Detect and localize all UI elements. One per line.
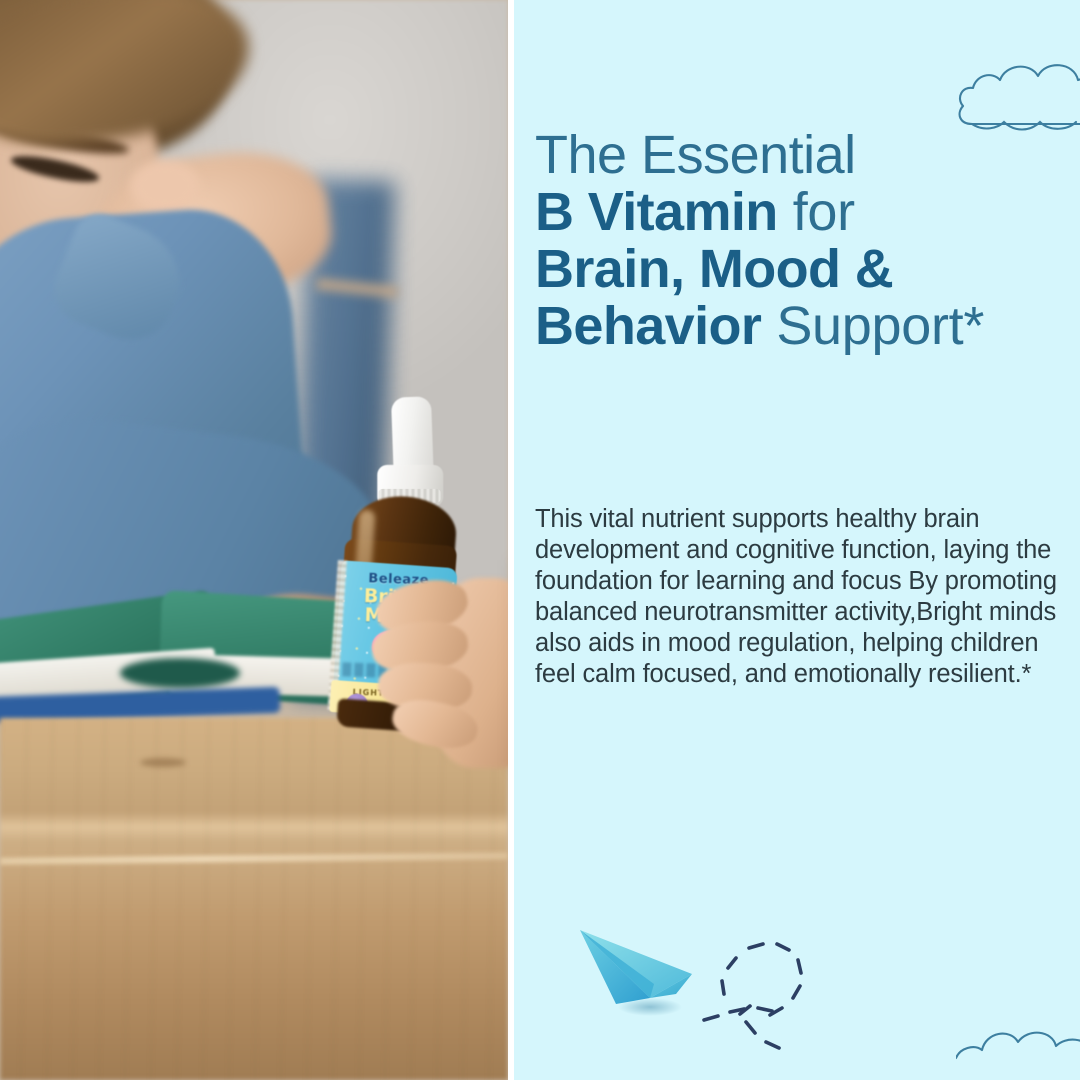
headline-line-4-light: Support* (776, 296, 984, 356)
headline-line-2: B Vitamin for (535, 185, 1080, 240)
headline-line-1: The Essential (535, 128, 1080, 183)
product-lifestyle-photo: Beleaze Bright Minds LIGHT CITRUS (0, 0, 508, 1080)
headline-block: The Essential B Vitamin for Brain, Mood … (535, 128, 1080, 354)
paper-plane-graphic (572, 902, 842, 1052)
cloud-bottom-right-icon (956, 1010, 1080, 1080)
photo-floor-grain (0, 718, 508, 1080)
ad-canvas: Beleaze Bright Minds LIGHT CITRUS (0, 0, 1080, 1080)
headline-line-4-bold: Behavior (535, 296, 761, 356)
photo-floor-knot (140, 758, 186, 767)
photo-child-thumb (130, 160, 200, 212)
headline-line-4: Behavior Support* (535, 299, 1080, 354)
headline-line-3-bold: Brain, Mood & (535, 239, 893, 299)
body-paragraph: This vital nutrient supports healthy bra… (535, 504, 1080, 690)
marketing-copy-panel: The Essential B Vitamin for Brain, Mood … (514, 0, 1080, 1080)
book-spine (120, 658, 240, 688)
plane-dashed-trail (704, 944, 801, 1048)
headline-line-2-bold: B Vitamin (535, 182, 778, 242)
headline-line-3: Brain, Mood & (535, 242, 1080, 297)
headline-line-2-light: for (793, 182, 855, 242)
cloud-top-right-icon (954, 42, 1080, 134)
photo-gripping-hand (398, 560, 508, 760)
